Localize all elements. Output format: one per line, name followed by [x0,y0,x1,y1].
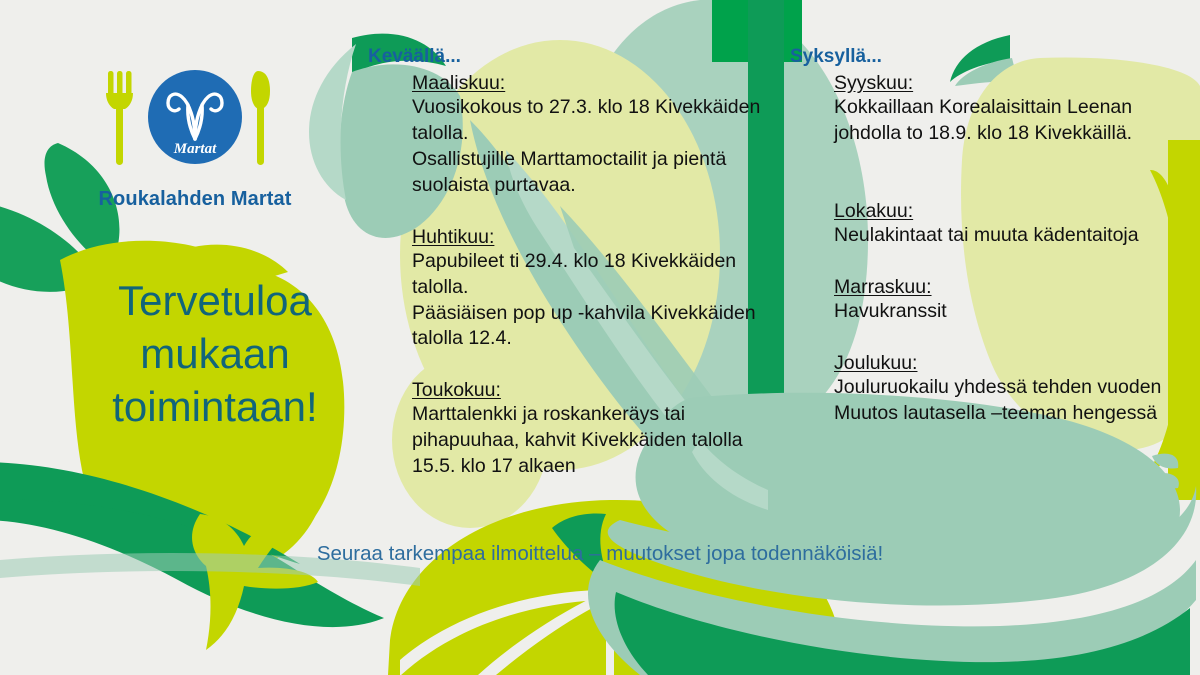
spring-column: Keväällä... Maaliskuu: Vuosikokous to 27… [368,46,768,481]
autumn-season-title: Syksyllä... [790,46,1190,68]
welcome-line-1: Tervetuloa [70,275,360,328]
month-block-huhtikuu: Huhtikuu: Papubileet ti 29.4. klo 18 Kiv… [412,226,768,353]
month-desc-toukokuu: Marttalenkki ja roskankeräys tai pihapuu… [412,402,768,480]
month-block-lokakuu: Lokakuu: Neulakintaat tai muuta kädentai… [834,200,1190,249]
spacer [790,174,1190,200]
month-block-maaliskuu: Maaliskuu: Vuosikokous to 27.3. klo 18 K… [412,72,768,199]
month-name-syyskuu: Syyskuu: [834,72,1190,95]
knife-icon [251,71,270,165]
month-name-toukokuu: Toukokuu: [412,379,768,402]
footer-note: Seuraa tarkempaa ilmoittelua – muutokset… [0,542,1200,566]
month-name-joulukuu: Joulukuu: [834,352,1190,375]
organisation-name: Roukalahden Martat [90,188,300,211]
month-block-syyskuu: Syyskuu: Kokkaillaan Korealaisittain Lee… [834,72,1190,147]
spacer [368,353,768,379]
fork-icon [106,71,133,165]
month-name-huhtikuu: Huhtikuu: [412,226,768,249]
month-desc-huhtikuu: Papubileet ti 29.4. klo 18 Kivekkäiden t… [412,249,768,353]
month-name-lokakuu: Lokakuu: [834,200,1190,223]
month-name-maaliskuu: Maaliskuu: [412,72,768,95]
spacer [368,200,768,226]
logo-marks: Martat [90,55,300,180]
spacer [790,250,1190,276]
spacer [790,326,1190,352]
month-desc-maaliskuu: Vuosikokous to 27.3. klo 18 Kivekkäiden … [412,95,768,199]
month-desc-joulukuu: Jouluruokailu yhdessä tehden vuoden Muut… [834,375,1190,427]
spacer [790,148,1190,174]
month-desc-marraskuu: Havukranssit [834,299,1190,325]
month-desc-lokakuu: Neulakintaat tai muuta kädentaitoja [834,223,1190,249]
month-block-toukokuu: Toukokuu: Marttalenkki ja roskankeräys t… [412,379,768,480]
welcome-headline: Tervetuloa mukaan toimintaan! [70,275,360,434]
logo-block: Martat Roukalahden Martat [90,55,300,211]
month-desc-syyskuu: Kokkaillaan Korealaisittain Leenan johdo… [834,95,1190,147]
month-block-joulukuu: Joulukuu: Jouluruokailu yhdessä tehden v… [834,352,1190,427]
autumn-column: Syksyllä... Syyskuu: Kokkaillaan Koreala… [790,46,1190,428]
poster-canvas: Martat Roukalahden Martat Tervetuloa muk… [0,0,1200,675]
logo-word: Martat [173,141,217,157]
month-block-marraskuu: Marraskuu: Havukranssit [834,276,1190,325]
martat-roundel-icon: Martat [148,70,242,164]
welcome-line-2: mukaan [70,328,360,381]
spring-season-title: Keväällä... [368,46,768,68]
month-name-marraskuu: Marraskuu: [834,276,1190,299]
welcome-line-3: toimintaan! [70,381,360,434]
